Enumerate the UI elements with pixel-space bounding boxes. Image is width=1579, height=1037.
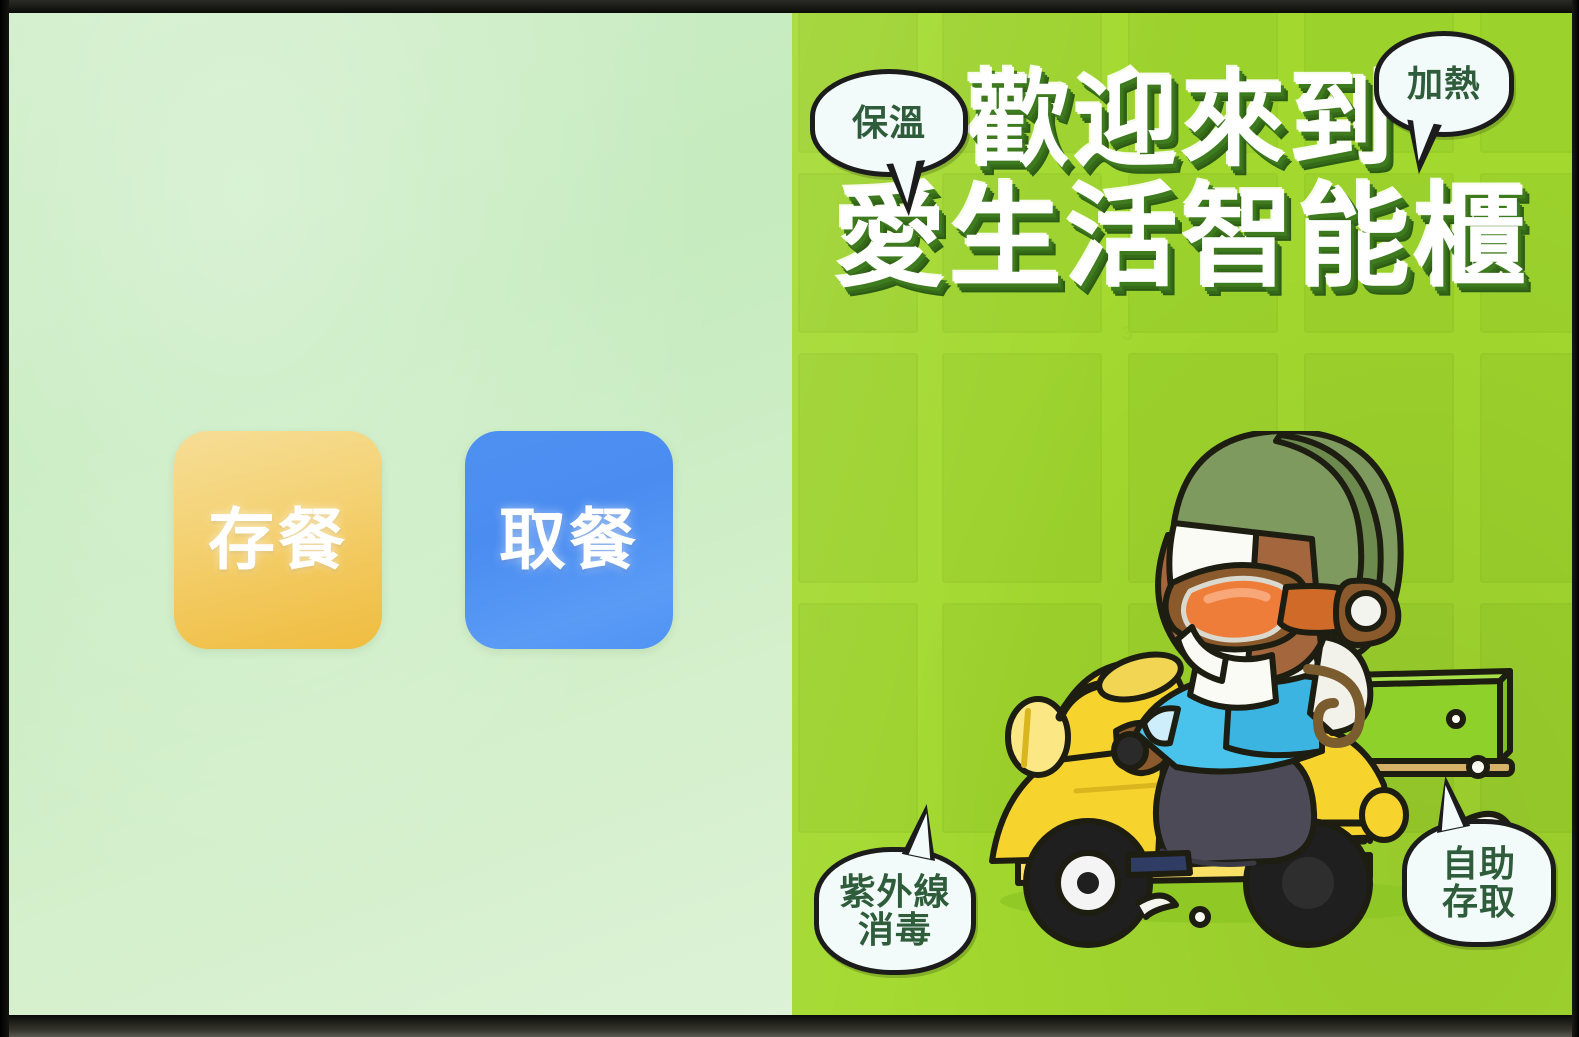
welcome-poster: 5 8 14 3 歡迎來到 愛生活智能櫃 <box>792 13 1572 1015</box>
feature-bubble-keep-warm-label: 保溫 <box>852 104 926 142</box>
locker-number: 5 <box>904 313 915 336</box>
screen-bezel-bottom <box>0 1015 1579 1037</box>
feature-bubble-uv-disinfection: 紫外線 消毒 <box>814 847 976 975</box>
locker-number: 8 <box>820 613 831 636</box>
store-meal-button-label: 存餐 <box>208 507 348 574</box>
bubble-line-1: 紫外線 <box>839 871 950 912</box>
store-meal-button[interactable]: 存餐 <box>174 431 382 649</box>
screen-bezel-right <box>1572 0 1579 1037</box>
screen-bezel-top <box>0 0 1579 13</box>
feature-bubble-heat: 加熱 <box>1374 31 1514 137</box>
screen-bezel-left <box>0 0 9 1037</box>
bubble-line-2: 消毒 <box>858 909 932 950</box>
action-panel: 存餐 取餐 <box>9 13 792 1015</box>
pickup-meal-button[interactable]: 取餐 <box>465 431 673 649</box>
feature-bubble-keep-warm: 保溫 <box>810 69 968 177</box>
locker-number: 3 <box>1122 323 1133 346</box>
feature-bubble-uv-disinfection-label: 紫外線 消毒 <box>839 873 950 949</box>
kiosk-screen: 存餐 取餐 <box>0 0 1579 1037</box>
panel-wrap: 存餐 取餐 <box>9 13 1572 1015</box>
pickup-meal-button-label: 取餐 <box>499 507 639 574</box>
feature-bubble-self-service-label: 自助 存取 <box>1442 845 1516 921</box>
feature-bubble-self-service: 自助 存取 <box>1402 819 1556 947</box>
bubble-line-2: 存取 <box>1442 881 1516 922</box>
feature-bubble-heat-label: 加熱 <box>1407 65 1481 103</box>
bubble-line-1: 自助 <box>1442 843 1516 884</box>
action-button-group: 存餐 取餐 <box>174 431 673 649</box>
